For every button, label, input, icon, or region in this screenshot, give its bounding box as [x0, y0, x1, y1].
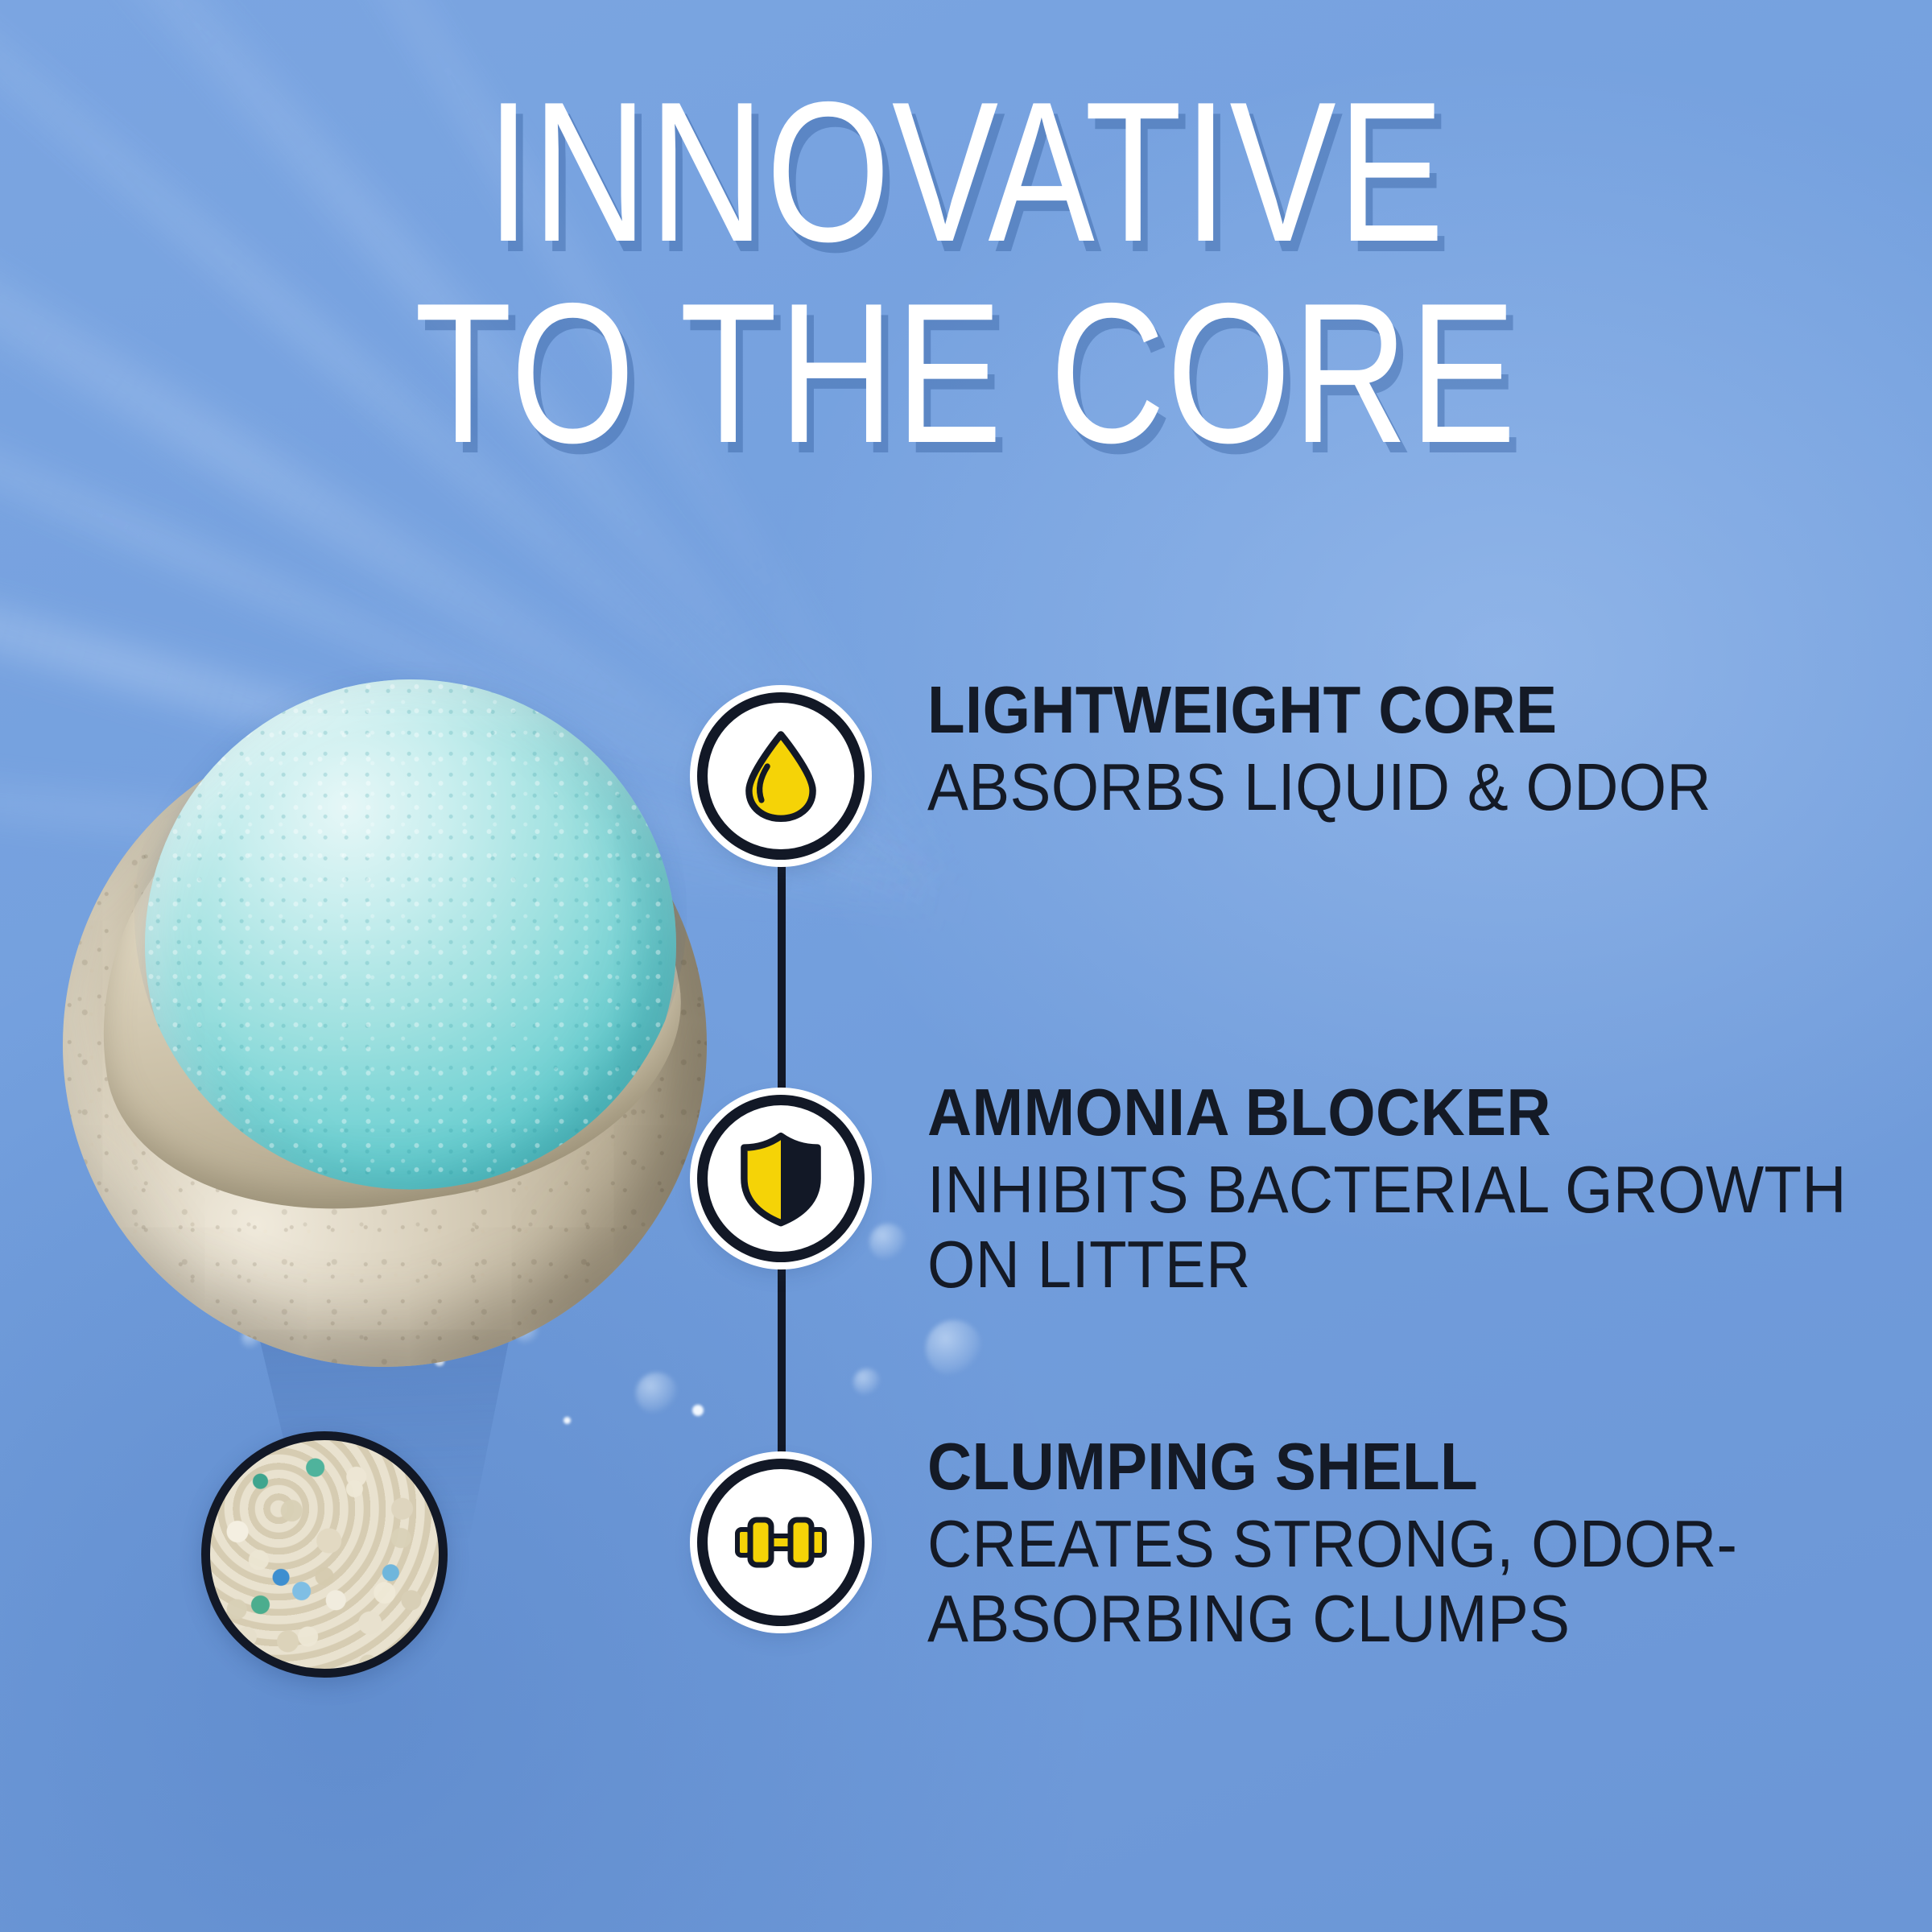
feature-badge-ammonia-blocker[interactable] [697, 1095, 865, 1262]
bokeh-dot [869, 1224, 906, 1261]
bokeh-dot [853, 1368, 881, 1396]
feature-title: LIGHTWEIGHT CORE [927, 675, 1802, 745]
product-feature-poster: INNOVATIVE TO THE CORE [0, 0, 1932, 1932]
headline-line-2: TO THE CORE [309, 279, 1623, 469]
feature-badge-lightweight-core[interactable] [697, 692, 865, 860]
bokeh-dot [926, 1320, 982, 1377]
headline-line-1: INNOVATIVE [309, 77, 1623, 267]
litter-granules-circle [201, 1431, 448, 1678]
feature-title: CLUMPING SHELL [927, 1431, 1802, 1502]
sparkle [692, 1405, 704, 1416]
feature-title: AMMONIA BLOCKER [927, 1077, 1802, 1148]
feature-description: INHIBITS BACTERIAL GROWTH ON LITTER [927, 1153, 1932, 1302]
sparkle [563, 1417, 571, 1424]
product-sphere [48, 668, 757, 1377]
feature-item: AMMONIA BLOCKER INHIBITS BACTERIAL GROWT… [927, 1077, 1877, 1302]
feature-description: ABSORBS LIQUID & ODOR [927, 750, 1932, 825]
feature-item: LIGHTWEIGHT CORE ABSORBS LIQUID & ODOR [927, 675, 1877, 825]
feature-description: CREATES STRONG, ODOR-ABSORBING CLUMPS [927, 1507, 1932, 1657]
shield-icon [733, 1130, 829, 1227]
feature-item: CLUMPING SHELL CREATES STRONG, ODOR-ABSO… [927, 1431, 1877, 1657]
page-title: INNOVATIVE TO THE CORE [0, 77, 1932, 468]
bokeh-dot [636, 1373, 678, 1414]
droplet-icon [733, 728, 829, 824]
feature-badge-clumping-shell[interactable] [697, 1459, 865, 1626]
dumbbell-icon [733, 1494, 829, 1591]
